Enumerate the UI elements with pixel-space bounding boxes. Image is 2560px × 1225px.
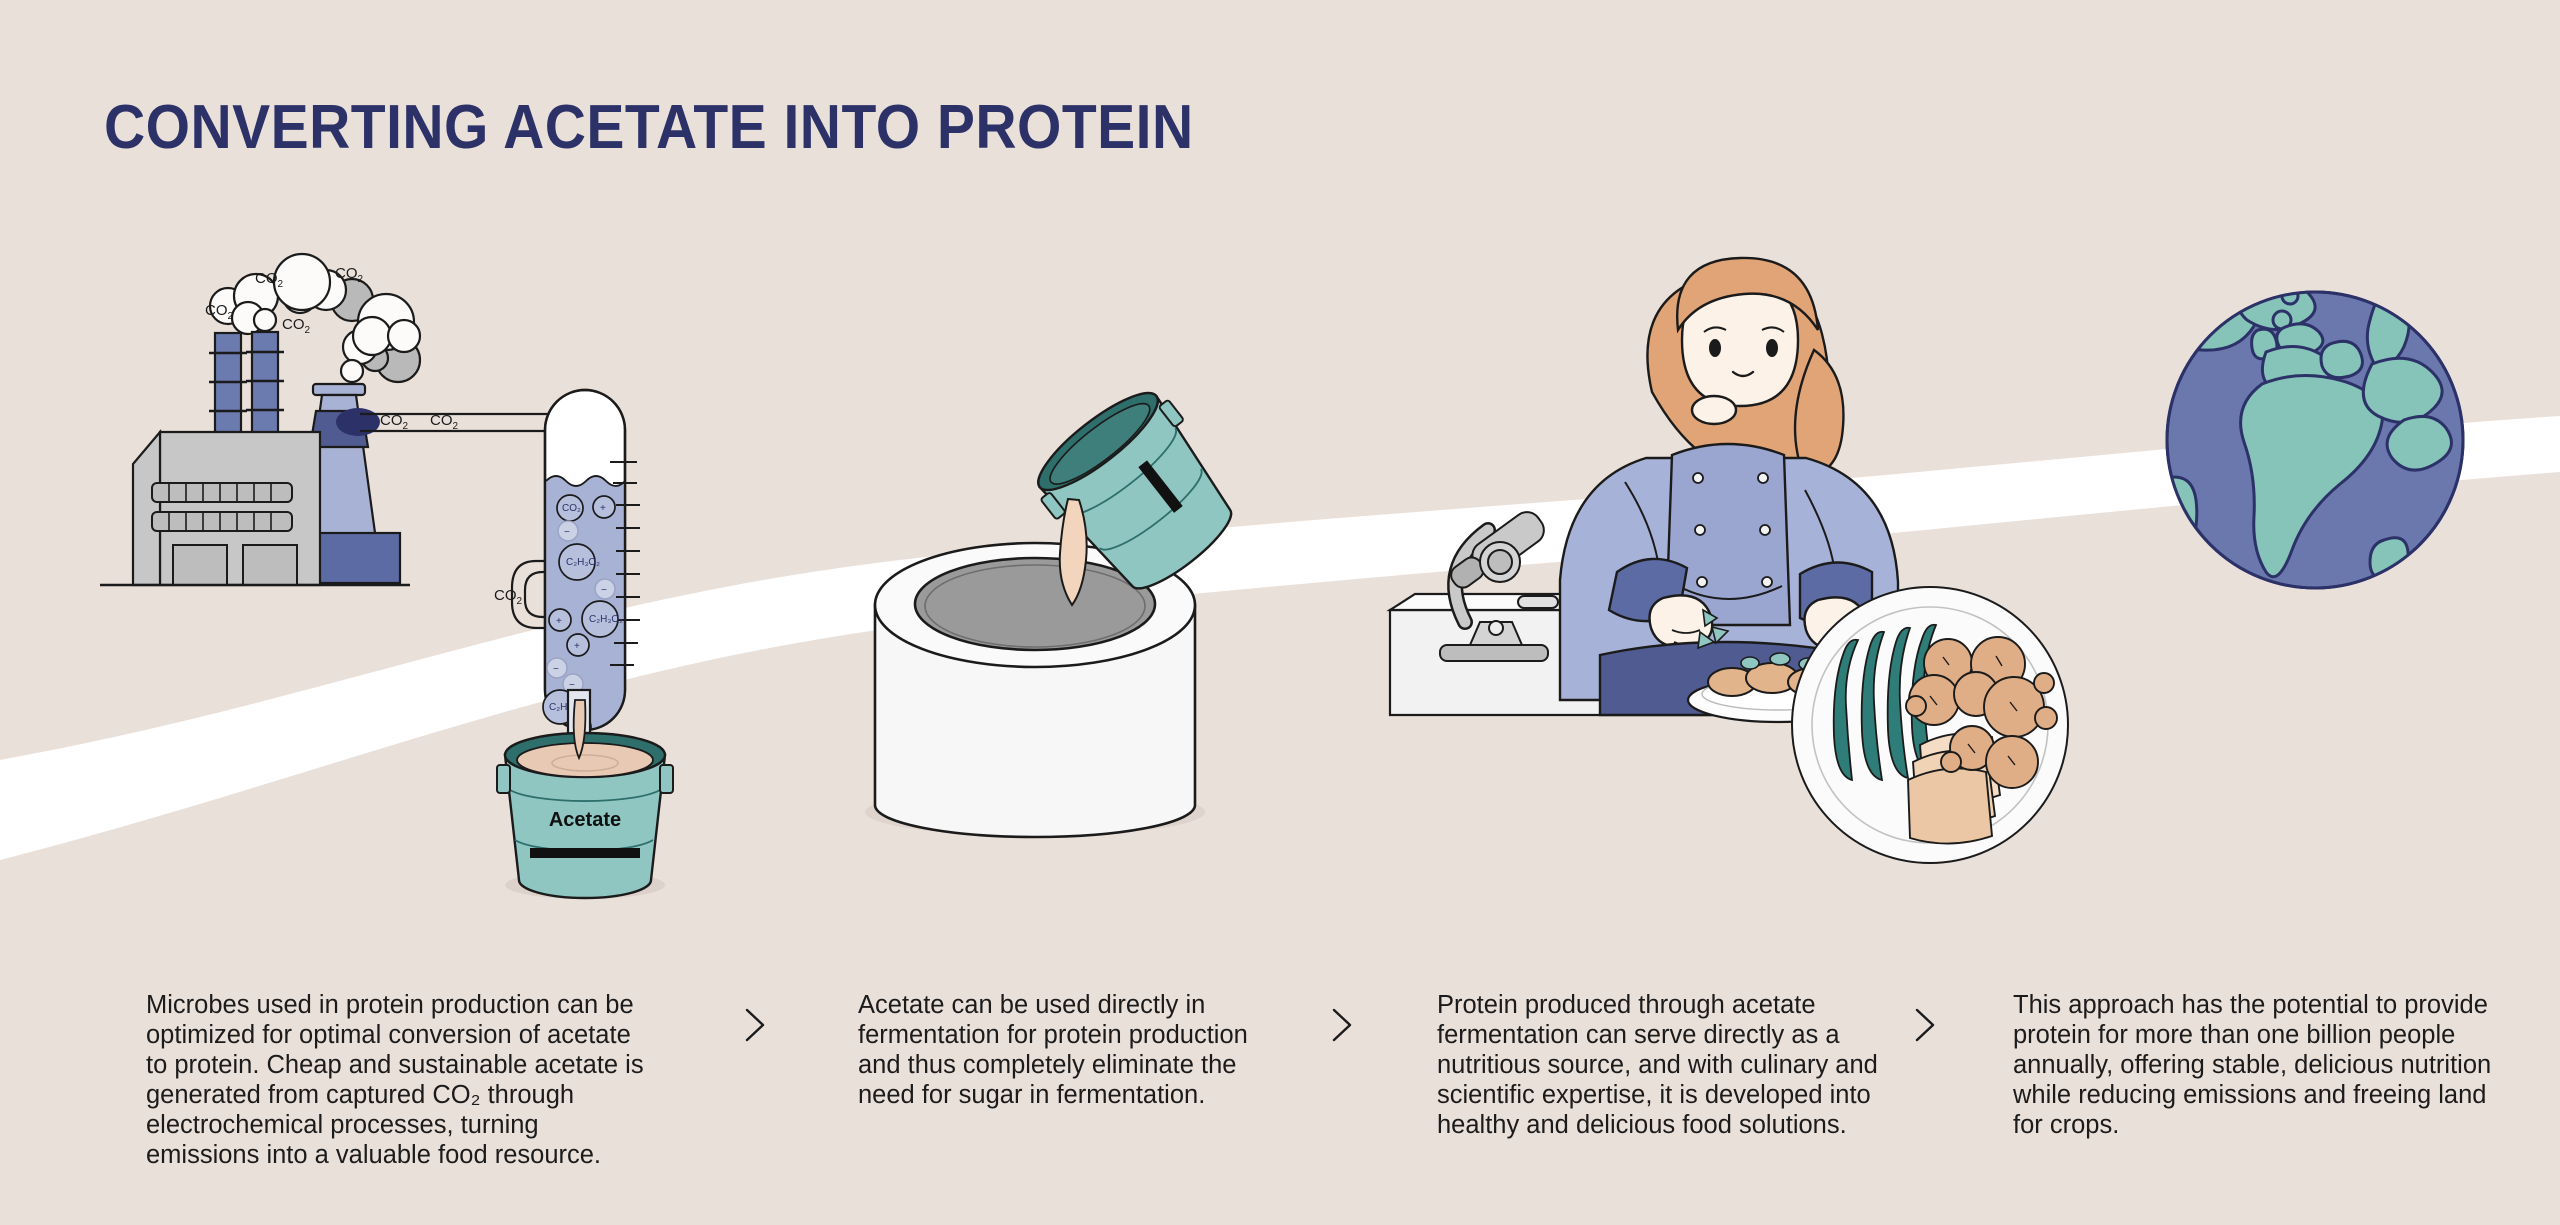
- caption-step-3: Protein produced through acetate ferment…: [1437, 990, 1927, 1140]
- chevron-right-icon: [1905, 1002, 1945, 1048]
- earth-globe-icon: [2138, 281, 2463, 599]
- chevron-right-icon: [735, 1002, 775, 1048]
- chevron-right-icon: [1322, 1002, 1362, 1048]
- caption-row: Microbes used in protein production can …: [0, 990, 2560, 1225]
- caption-step-2: Acetate can be used directly in fermenta…: [858, 990, 1278, 1110]
- caption-step-4: This approach has the potential to provi…: [2013, 990, 2503, 1140]
- infographic-canvas: CONVERTING ACETATE INTO PROTEIN CO2 CO2 …: [0, 0, 2560, 1225]
- caption-step-1: Microbes used in protein production can …: [146, 990, 646, 1170]
